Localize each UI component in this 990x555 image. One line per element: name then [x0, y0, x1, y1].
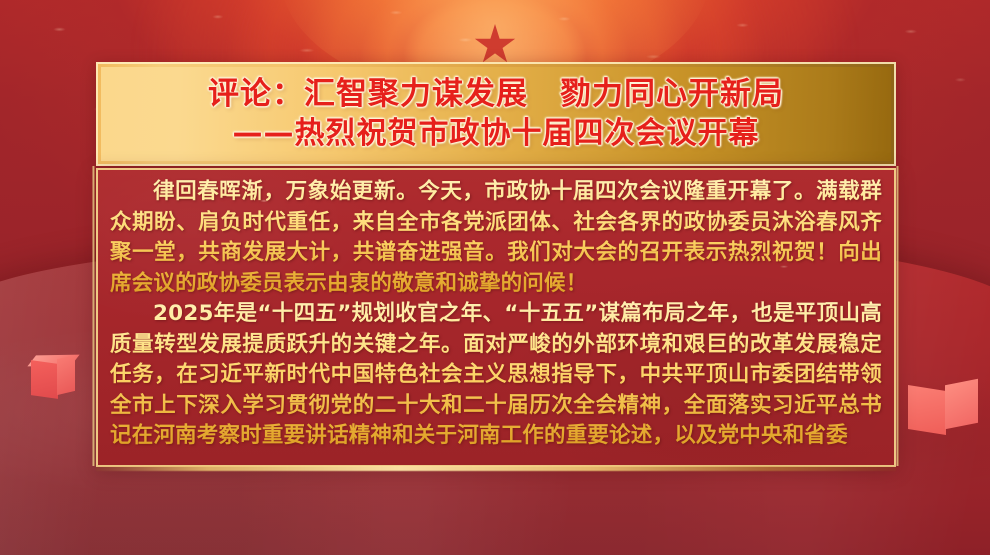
- article-paragraph: 2025年是“十四五”规划收官之年、“十五五”谋篇布局之年，也是平顶山高质量转型…: [110, 299, 882, 452]
- article-panel: 律回春晖渐，万象始更新。今天，市政协十届四次会议隆重开幕了。满载群众期盼、肩负时…: [96, 168, 896, 467]
- gold-pinstripe-right: [896, 166, 899, 466]
- gold-pinstripe-left: [92, 166, 95, 466]
- cube-face-front: [908, 385, 946, 435]
- cube-decoration-right: [908, 382, 978, 434]
- cube-face-side: [945, 379, 978, 429]
- title-banner-inner: 评论：汇智聚力谋发展 勠力同心开新局 ——热烈祝贺市政协十届四次会议开幕: [101, 67, 891, 161]
- cube-face-front: [31, 360, 58, 399]
- article-paragraph: 律回春晖渐，万象始更新。今天，市政协十届四次会议隆重开幕了。满载群众期盼、肩负时…: [110, 177, 882, 299]
- panel-bottom-trim: [96, 466, 896, 471]
- article-body: 律回春晖渐，万象始更新。今天，市政协十届四次会议隆重开幕了。满载群众期盼、肩负时…: [96, 168, 896, 452]
- poster-stage: 评论：汇智聚力谋发展 勠力同心开新局 ——热烈祝贺市政协十届四次会议开幕 律回春…: [0, 0, 990, 555]
- title-banner: 评论：汇智聚力谋发展 勠力同心开新局 ——热烈祝贺市政协十届四次会议开幕: [96, 62, 896, 166]
- page-subtitle: ——热烈祝贺市政协十届四次会议开幕: [233, 115, 760, 153]
- page-title: 评论：汇智聚力谋发展 勠力同心开新局: [208, 75, 784, 113]
- cube-face-side: [57, 355, 75, 395]
- cube-decoration-left: [31, 355, 75, 397]
